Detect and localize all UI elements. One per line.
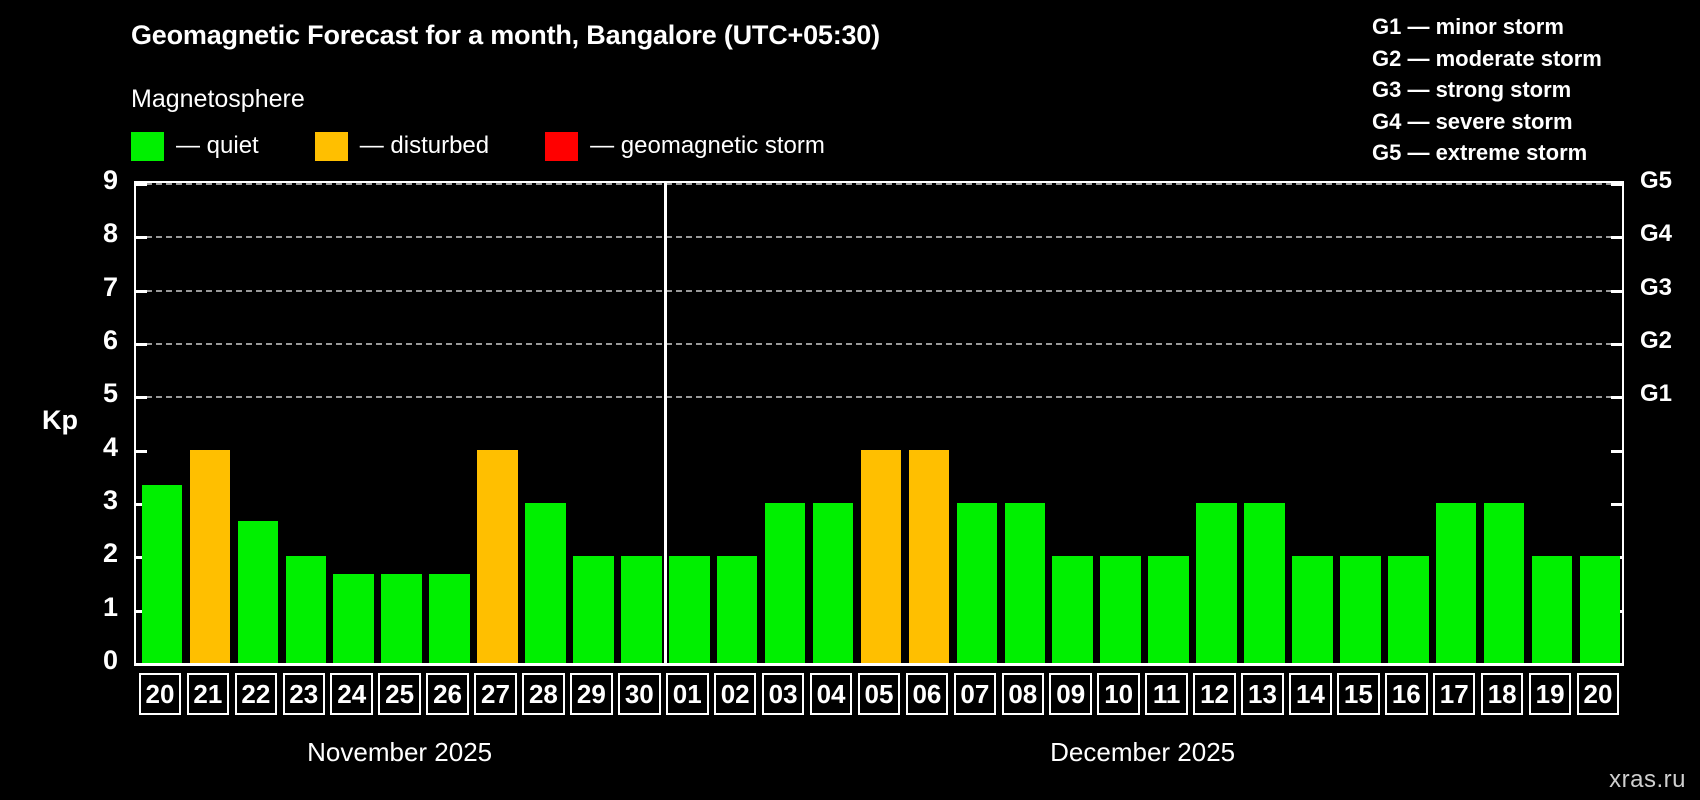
bar xyxy=(1484,503,1525,663)
y-axis-label-1: 1 xyxy=(78,592,118,623)
legend-swatch-quiet-icon xyxy=(131,132,164,161)
date-label-23[interactable]: 23 xyxy=(283,673,326,715)
y-axis-label-0: 0 xyxy=(78,645,118,676)
date-label-19[interactable]: 19 xyxy=(1529,673,1572,715)
bar xyxy=(381,574,422,663)
date-label-03[interactable]: 03 xyxy=(762,673,805,715)
date-label-22[interactable]: 22 xyxy=(235,673,278,715)
bar xyxy=(1148,556,1189,663)
bar xyxy=(286,556,327,663)
date-label-07[interactable]: 07 xyxy=(954,673,997,715)
date-label-29[interactable]: 29 xyxy=(570,673,613,715)
y-axis-label-4: 4 xyxy=(78,432,118,463)
date-label-01[interactable]: 01 xyxy=(666,673,709,715)
gscale-line-g4: G4 — severe storm xyxy=(1372,106,1682,138)
bar xyxy=(333,574,374,663)
bar xyxy=(1244,503,1285,663)
date-label-13[interactable]: 13 xyxy=(1241,673,1284,715)
date-label-02[interactable]: 02 xyxy=(714,673,757,715)
bar xyxy=(669,556,710,663)
bar xyxy=(1532,556,1573,663)
g-axis-label-G1: G1 xyxy=(1640,380,1672,408)
bar xyxy=(861,450,902,663)
bar xyxy=(1436,503,1477,663)
legend-item-storm: — geomagnetic storm xyxy=(545,132,825,161)
gscale-line-g5: G5 — extreme storm xyxy=(1372,137,1682,169)
date-label-09[interactable]: 09 xyxy=(1049,673,1092,715)
g-axis-label-G2: G2 xyxy=(1640,327,1672,355)
y-axis-label-5: 5 xyxy=(78,378,118,409)
y-axis-label-9: 9 xyxy=(78,165,118,196)
y-axis-label-6: 6 xyxy=(78,325,118,356)
date-label-04[interactable]: 04 xyxy=(810,673,853,715)
date-label-20[interactable]: 20 xyxy=(1577,673,1620,715)
bar xyxy=(525,503,566,663)
date-label-25[interactable]: 25 xyxy=(378,673,421,715)
gscale-key: G1 — minor storm G2 — moderate storm G3 … xyxy=(1372,11,1682,169)
gscale-line-g3: G3 — strong storm xyxy=(1372,74,1682,106)
date-label-14[interactable]: 14 xyxy=(1289,673,1332,715)
date-label-16[interactable]: 16 xyxy=(1385,673,1428,715)
g-axis-label-G5: G5 xyxy=(1640,167,1672,195)
y-axis-label-2: 2 xyxy=(78,538,118,569)
bar xyxy=(142,485,183,663)
date-label-15[interactable]: 15 xyxy=(1337,673,1380,715)
gscale-line-g2: G2 — moderate storm xyxy=(1372,43,1682,75)
date-label-21[interactable]: 21 xyxy=(187,673,230,715)
legend-swatch-disturbed-icon xyxy=(315,132,348,161)
bar xyxy=(1388,556,1429,663)
legend-label-storm: — geomagnetic storm xyxy=(590,132,825,160)
bar xyxy=(477,450,518,663)
bar xyxy=(238,521,279,663)
bar xyxy=(573,556,614,663)
bar xyxy=(1340,556,1381,663)
legend-label-quiet: — quiet xyxy=(176,132,259,160)
date-label-08[interactable]: 08 xyxy=(1002,673,1045,715)
watermark: xras.ru xyxy=(1609,766,1686,794)
date-label-12[interactable]: 12 xyxy=(1193,673,1236,715)
date-label-06[interactable]: 06 xyxy=(906,673,949,715)
date-label-11[interactable]: 11 xyxy=(1145,673,1188,715)
bar xyxy=(429,574,470,663)
bar-series xyxy=(136,183,1622,663)
bar xyxy=(1005,503,1046,663)
date-label-30[interactable]: 30 xyxy=(618,673,661,715)
bar xyxy=(1292,556,1333,663)
month-label: November 2025 xyxy=(136,737,663,768)
bar xyxy=(621,556,662,663)
bar xyxy=(813,503,854,663)
date-label-28[interactable]: 28 xyxy=(522,673,565,715)
date-label-05[interactable]: 05 xyxy=(858,673,901,715)
bar xyxy=(957,503,998,663)
g-axis-label-G3: G3 xyxy=(1640,274,1672,302)
bar xyxy=(1052,556,1093,663)
g-axis-label-G4: G4 xyxy=(1640,220,1672,248)
y-axis-label-8: 8 xyxy=(78,218,118,249)
date-label-26[interactable]: 26 xyxy=(426,673,469,715)
date-label-18[interactable]: 18 xyxy=(1481,673,1524,715)
legend-item-quiet: — quiet xyxy=(131,132,259,161)
date-label-17[interactable]: 17 xyxy=(1433,673,1476,715)
date-label-10[interactable]: 10 xyxy=(1097,673,1140,715)
month-label: December 2025 xyxy=(663,737,1622,768)
date-axis: 2021222324252627282930010203040506070809… xyxy=(134,673,1624,715)
legend-heading: Magnetosphere xyxy=(131,85,305,114)
y-axis-label-7: 7 xyxy=(78,272,118,303)
legend: — quiet — disturbed — geomagnetic storm xyxy=(131,131,825,161)
y-axis-label-3: 3 xyxy=(78,485,118,516)
legend-item-disturbed: — disturbed xyxy=(315,132,489,161)
page-title: Geomagnetic Forecast for a month, Bangal… xyxy=(131,20,880,51)
date-label-20[interactable]: 20 xyxy=(139,673,182,715)
date-label-27[interactable]: 27 xyxy=(474,673,517,715)
legend-swatch-storm-icon xyxy=(545,132,578,161)
bar xyxy=(717,556,758,663)
gscale-line-g1: G1 — minor storm xyxy=(1372,11,1682,43)
legend-label-disturbed: — disturbed xyxy=(360,132,489,160)
month-divider xyxy=(664,183,667,663)
y-axis-title: Kp xyxy=(42,405,78,436)
bar xyxy=(765,503,806,663)
plot-area xyxy=(134,181,1624,666)
bar xyxy=(1100,556,1141,663)
bar xyxy=(190,450,231,663)
bar xyxy=(1580,556,1621,663)
date-label-24[interactable]: 24 xyxy=(330,673,373,715)
bar xyxy=(909,450,950,663)
bar xyxy=(1196,503,1237,663)
